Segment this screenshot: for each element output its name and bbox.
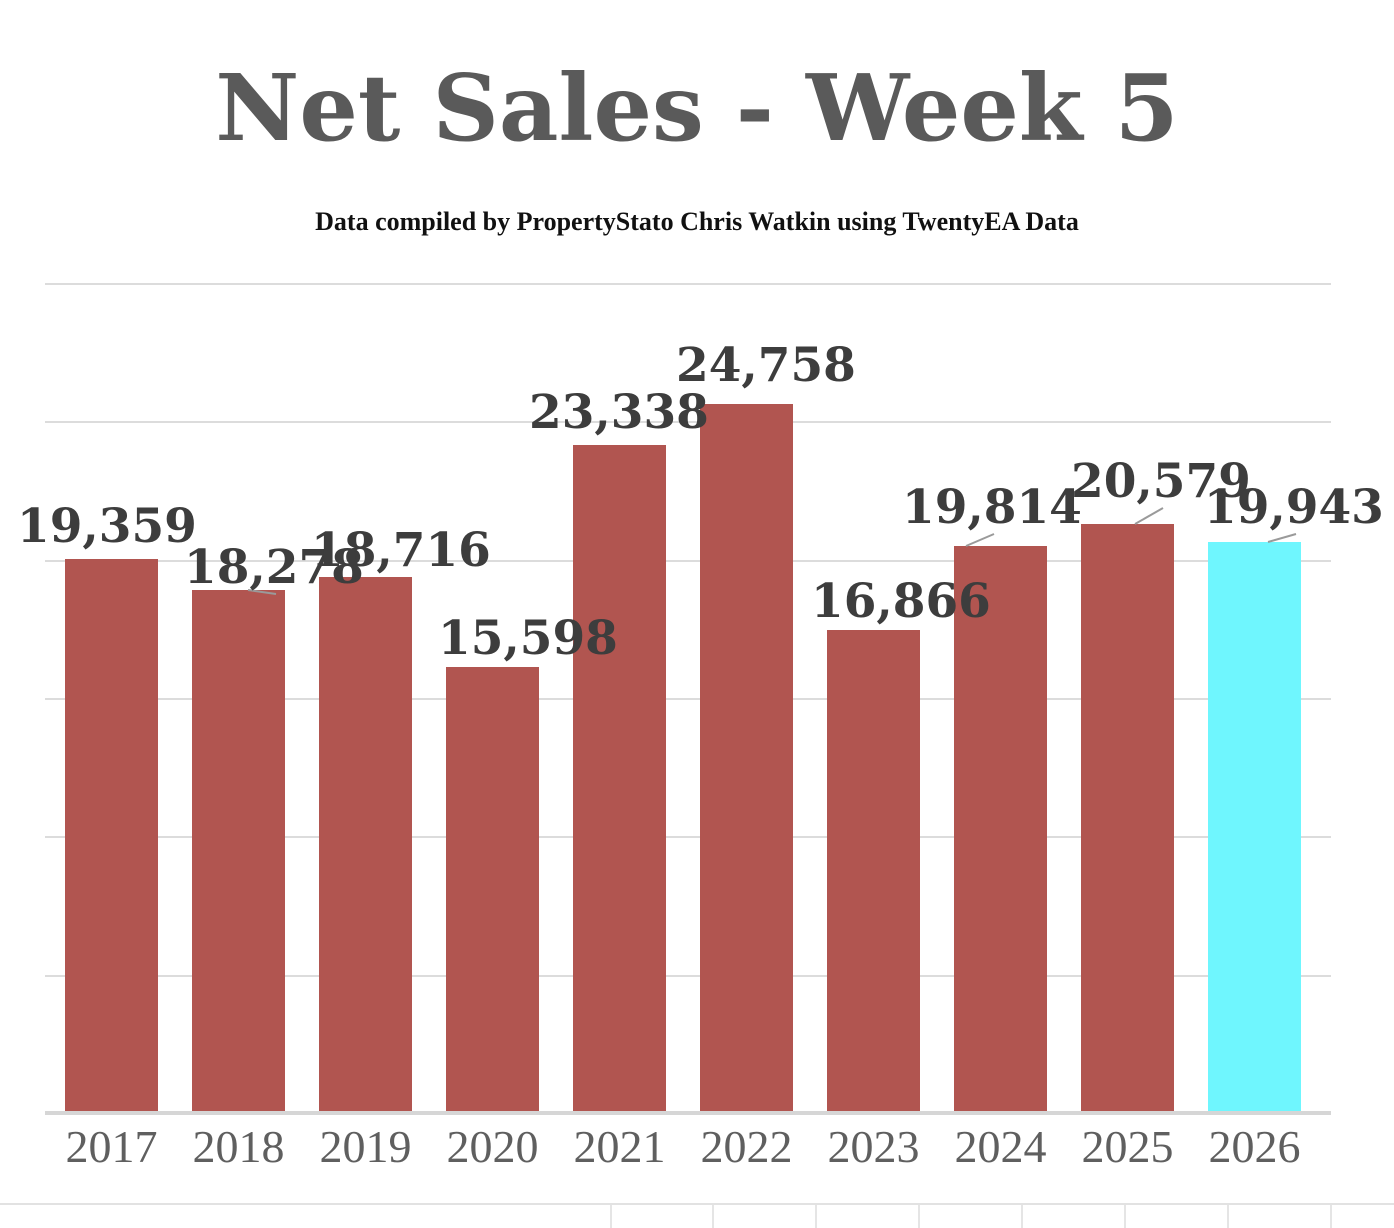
x-tick-2019: 2019 bbox=[302, 1120, 429, 1173]
bottom-tick bbox=[1330, 1205, 1332, 1228]
bar-2026[interactable] bbox=[1208, 542, 1301, 1113]
leader-line-2018 bbox=[256, 594, 346, 664]
x-tick-2026: 2026 bbox=[1191, 1120, 1318, 1173]
x-tick-2020: 2020 bbox=[429, 1120, 556, 1173]
bottom-tick bbox=[918, 1205, 920, 1228]
bottom-tick bbox=[1227, 1205, 1229, 1228]
x-axis-line bbox=[45, 1111, 1331, 1115]
bar-2025[interactable] bbox=[1081, 524, 1174, 1113]
leader-line-2026 bbox=[1276, 534, 1366, 604]
bar-2022[interactable] bbox=[700, 404, 793, 1113]
bottom-divider bbox=[0, 1203, 1394, 1205]
x-tick-2021: 2021 bbox=[556, 1120, 683, 1173]
value-label-2021: 23,338 bbox=[529, 389, 709, 436]
bottom-tick bbox=[1021, 1205, 1023, 1228]
plot-area: 19,35918,27818,71615,59823,33824,75816,8… bbox=[45, 283, 1331, 1113]
value-label-2026: 19,943 bbox=[1204, 484, 1384, 531]
bar-chart: Net Sales - Week 5 Data compiled by Prop… bbox=[0, 0, 1394, 1228]
value-label-2022: 24,758 bbox=[676, 342, 856, 389]
x-tick-2022: 2022 bbox=[683, 1120, 810, 1173]
bar-2023[interactable] bbox=[827, 630, 920, 1113]
bar-2021[interactable] bbox=[573, 445, 666, 1113]
x-tick-2025: 2025 bbox=[1064, 1120, 1191, 1173]
x-tick-2017: 2017 bbox=[48, 1120, 175, 1173]
x-axis-labels: 2017201820192020202120222023202420252026 bbox=[45, 1120, 1331, 1190]
x-tick-2018: 2018 bbox=[175, 1120, 302, 1173]
value-label-2017: 19,359 bbox=[17, 503, 197, 550]
page-title: Net Sales - Week 5 bbox=[0, 62, 1394, 154]
bar-2024[interactable] bbox=[954, 546, 1047, 1113]
bar-2020[interactable] bbox=[446, 667, 539, 1113]
gridline bbox=[45, 283, 1331, 285]
x-tick-2024: 2024 bbox=[937, 1120, 1064, 1173]
value-label-2020: 15,598 bbox=[438, 615, 618, 662]
chart-subtitle: Data compiled by PropertyStato Chris Wat… bbox=[0, 207, 1394, 237]
bar-2017[interactable] bbox=[65, 559, 158, 1113]
bar-2018[interactable] bbox=[192, 590, 285, 1113]
bottom-tick bbox=[712, 1205, 714, 1228]
bottom-tick bbox=[610, 1205, 612, 1228]
value-label-2019: 18,716 bbox=[311, 527, 491, 574]
bottom-tick bbox=[1124, 1205, 1126, 1228]
bottom-tick bbox=[815, 1205, 817, 1228]
x-tick-2023: 2023 bbox=[810, 1120, 937, 1173]
value-label-2024: 19,814 bbox=[902, 484, 1082, 531]
value-label-2023: 16,866 bbox=[811, 578, 991, 625]
